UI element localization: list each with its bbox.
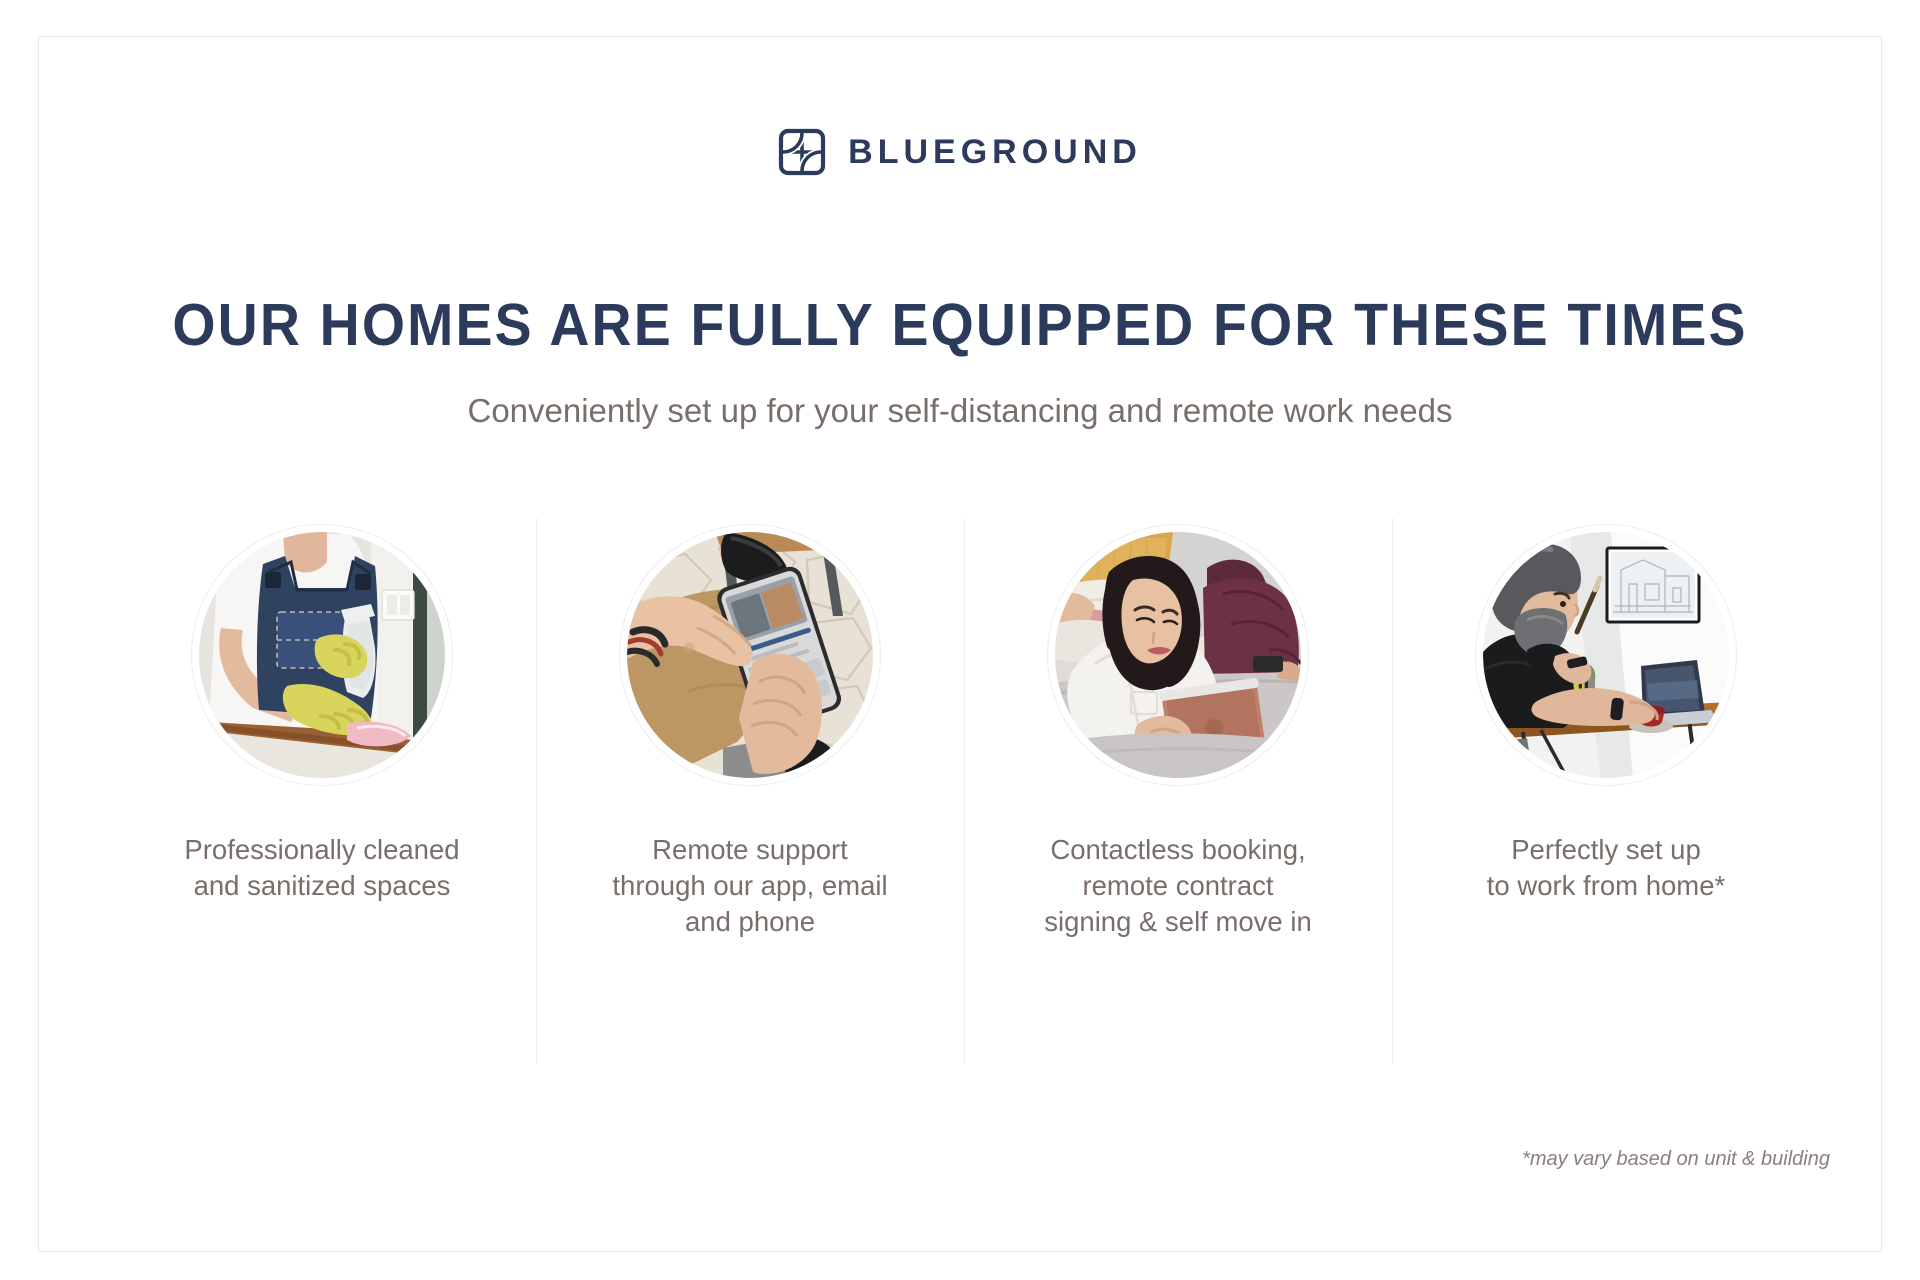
blueground-square-logo-icon [778, 128, 826, 176]
photo-ring [1475, 524, 1737, 786]
feature-caption: Professionally cleaned and sanitized spa… [184, 832, 459, 904]
photo-ring [1047, 524, 1309, 786]
feature-card-cleaning: Professionally cleaned and sanitized spa… [108, 518, 536, 1064]
feature-card-contactless-booking: Contactless booking, remote contract sig… [964, 518, 1392, 1064]
page-subtitle: Conveniently set up for your self-distan… [0, 391, 1920, 431]
photo-work-from-home [1483, 532, 1729, 778]
feature-card-remote-support: Remote support through our app, email an… [536, 518, 964, 1064]
feature-columns: Professionally cleaned and sanitized spa… [108, 518, 1820, 1064]
feature-caption: Contactless booking, remote contract sig… [1044, 832, 1312, 939]
photo-professionally-cleaned [199, 532, 445, 778]
feature-caption: Perfectly set up to work from home* [1487, 832, 1725, 904]
brand-wordmark: BLUEGROUND [848, 135, 1142, 169]
feature-caption: Remote support through our app, email an… [612, 832, 887, 939]
marketing-poster: BLUEGROUND OUR HOMES ARE FULLY EQUIPPED … [0, 0, 1920, 1280]
page-title: OUR HOMES ARE FULLY EQUIPPED FOR THESE T… [58, 295, 1863, 357]
photo-ring [191, 524, 453, 786]
photo-ring [619, 524, 881, 786]
photo-remote-support [627, 532, 873, 778]
feature-card-work-from-home: Perfectly set up to work from home* [1392, 518, 1820, 1064]
footnote-disclaimer: *may vary based on unit & building [1522, 1148, 1830, 1171]
brand-logo[interactable]: BLUEGROUND [0, 128, 1920, 176]
photo-contactless-booking [1055, 532, 1301, 778]
